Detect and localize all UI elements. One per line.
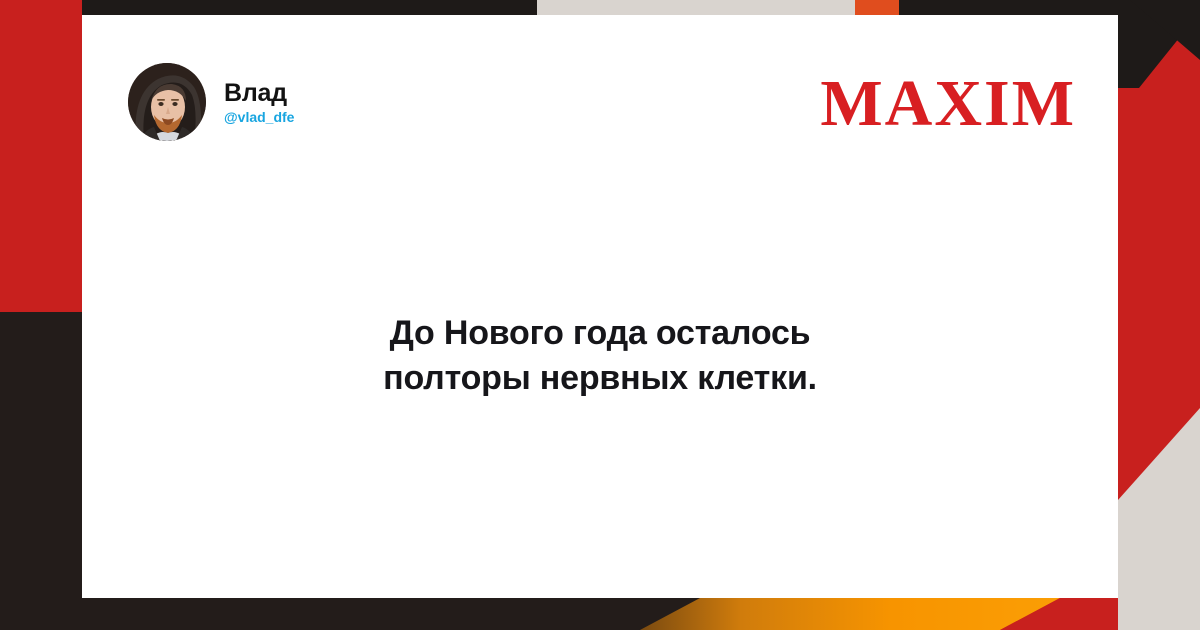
author-handle[interactable]: @vlad_dfe [224,109,294,126]
avatar-photo [128,63,206,141]
bg-left-red-band [0,0,82,312]
post-text-line-1: До Нового года осталось [142,311,1058,356]
tweet-card: Влад @vlad_dfe MAXIM До Нового года оста… [82,15,1118,598]
screenshot-root: Влад @vlad_dfe MAXIM До Нового года оста… [0,0,1200,630]
bg-left-dark-band [0,312,82,630]
author-display-name: Влад [224,79,294,107]
avatar[interactable] [128,63,206,141]
bg-top-dark-left [82,0,537,15]
post-text: До Нового года осталось полторы нервных … [82,311,1118,401]
author-identity: Влад @vlad_dfe [224,79,294,126]
bg-top-orange-red [855,0,899,15]
bg-top-gray [537,0,837,15]
post-text-line-2: полторы нервных клетки. [142,356,1058,401]
tweet-header: Влад @vlad_dfe [128,63,294,141]
maxim-logo: MAXIM [820,71,1076,137]
bg-bottom-dark [0,598,700,630]
bg-bottom-gray-right [1118,598,1200,630]
